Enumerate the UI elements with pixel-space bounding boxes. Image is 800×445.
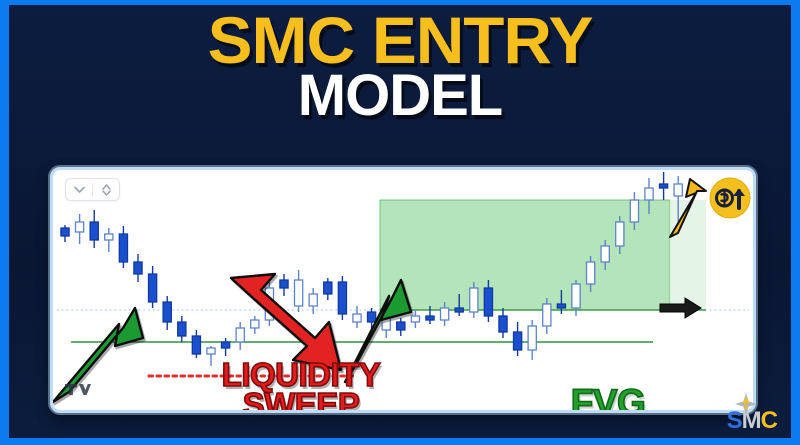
candle-body xyxy=(192,336,200,354)
candle-body xyxy=(368,312,376,322)
candle-body xyxy=(338,282,346,314)
candle-body xyxy=(572,284,580,308)
candle-body xyxy=(134,262,142,274)
fvg-line-1: FVG xyxy=(493,386,723,410)
candle-body xyxy=(470,288,478,312)
candle-body xyxy=(236,328,244,342)
fvg-entry-callout: FVG ENTRY xyxy=(493,386,723,410)
candle-body xyxy=(61,228,69,236)
logo-letter-c: C xyxy=(761,407,777,434)
candle-body xyxy=(484,288,492,316)
candle-body xyxy=(587,262,595,284)
chevron-down-icon[interactable] xyxy=(66,179,92,200)
chart-plot-area: LIQUIDITY SWEEP SWEEP + FVG ENTRY MARKET… xyxy=(53,170,753,410)
candle-body xyxy=(353,314,361,322)
title-block: SMC ENTRY MODEL xyxy=(9,9,791,125)
candle-body xyxy=(397,322,405,330)
candle-body xyxy=(616,222,624,246)
candle-body xyxy=(251,320,259,328)
thumbnail-root: SMC ENTRY MODEL xyxy=(0,0,800,445)
chart-panel: LIQUIDITY SWEEP SWEEP + FVG ENTRY MARKET… xyxy=(50,167,756,413)
tradingview-logo-icon xyxy=(65,382,91,402)
chart-controls[interactable] xyxy=(65,178,120,201)
sparkle-arrow-icon xyxy=(735,393,757,420)
candle-body xyxy=(163,302,171,322)
candle-body xyxy=(90,222,98,240)
candle-body xyxy=(543,304,551,326)
liquidity-sweep-callout: LIQUIDITY SWEEP xyxy=(191,360,411,410)
liquidity-sweep-line-2: SWEEP xyxy=(191,390,411,410)
candle-body xyxy=(119,234,127,262)
candle-body xyxy=(178,322,186,336)
candle-body xyxy=(441,308,449,320)
candle-body xyxy=(411,316,419,322)
candle-body xyxy=(601,246,609,262)
candle-body xyxy=(222,342,230,348)
candle-body xyxy=(630,200,638,222)
money-up-badge-icon xyxy=(709,177,751,219)
candle-body xyxy=(309,294,317,306)
candle-body xyxy=(149,274,157,302)
candle-body xyxy=(105,234,113,240)
candle-body xyxy=(499,316,507,332)
candle-body xyxy=(426,316,434,320)
candle-body xyxy=(557,304,565,308)
profit-arrow-icon xyxy=(664,171,712,246)
candle-body xyxy=(455,308,463,312)
fvg-zone xyxy=(380,200,670,310)
candle-body xyxy=(76,222,84,232)
candle-body xyxy=(280,280,288,288)
candle-body xyxy=(295,280,303,306)
candle-body xyxy=(528,326,536,350)
thumbnail-canvas: SMC ENTRY MODEL xyxy=(9,5,791,438)
candle-body xyxy=(324,282,332,294)
up-down-arrows-icon[interactable] xyxy=(93,179,119,200)
candle-body xyxy=(645,188,653,200)
candle-body xyxy=(514,332,522,350)
candle-body xyxy=(207,348,215,354)
title-line-1: SMC ENTRY xyxy=(9,9,791,72)
